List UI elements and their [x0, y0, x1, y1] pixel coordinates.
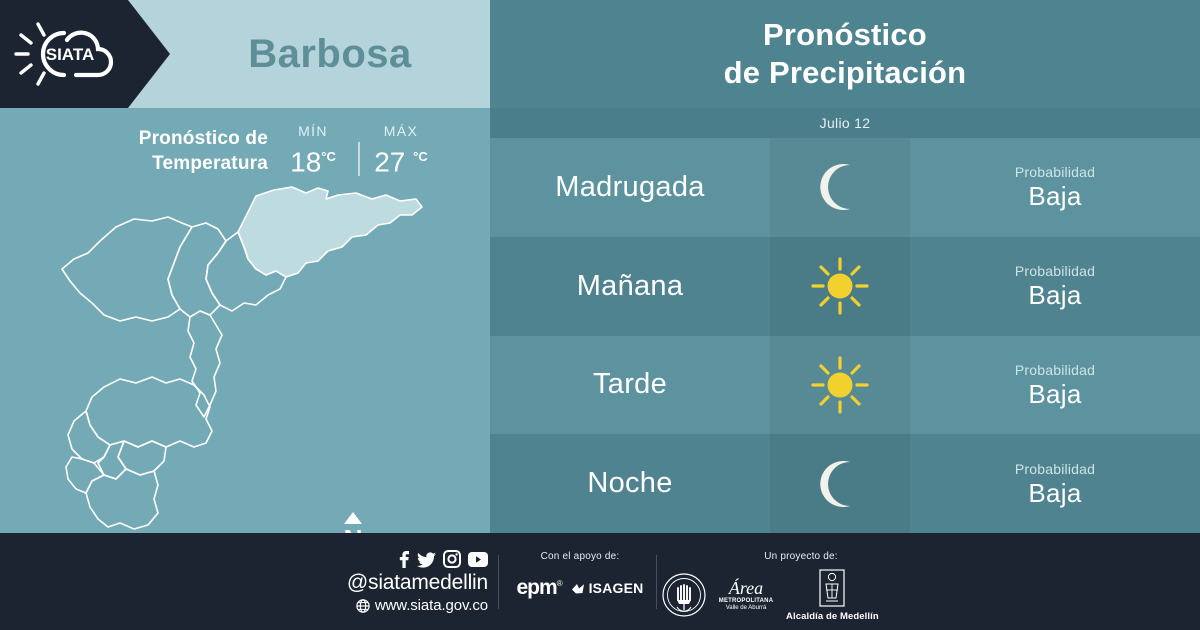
period-label: Mañana — [577, 270, 684, 303]
forecast-row: Madrugada Probabilidad Baja — [490, 138, 1200, 237]
period-cell: Tarde — [490, 336, 770, 435]
sun-cloud-icon: SIATA — [14, 18, 126, 90]
left-panel: SIATA Barbosa Pronóstico de Temperatura … — [0, 0, 490, 533]
forecast-rows: Madrugada Probabilidad Baja Mañana — [490, 138, 1200, 533]
sun-icon — [809, 255, 871, 317]
weather-icon-cell — [770, 336, 910, 435]
period-label: Madrugada — [555, 171, 704, 204]
map-region-corridor — [188, 311, 222, 417]
temperature-values: MÍN 18°C MÁX 27 °C — [278, 122, 438, 186]
temperature-block: Pronóstico de Temperatura MÍN 18°C MÁX 2… — [60, 122, 440, 186]
footer-divider — [656, 555, 657, 609]
probability-value: Baja — [1028, 478, 1081, 508]
forecast-title-line2: de Precipitación — [724, 55, 967, 90]
twitter-icon[interactable] — [417, 550, 436, 569]
left-header: SIATA Barbosa — [0, 0, 490, 108]
temperature-min-value-wrap: 18°C — [278, 141, 348, 178]
probability-cell: Probabilidad Baja — [910, 138, 1200, 237]
probability-caption: Probabilidad — [1015, 361, 1095, 379]
compass-arrow — [344, 512, 362, 524]
forecast-row: Noche Probabilidad Baja — [490, 434, 1200, 533]
temperature-min-value: 18 — [290, 146, 321, 177]
amva-name: Área — [718, 578, 774, 598]
youtube-icon[interactable] — [468, 552, 488, 567]
social-icons — [318, 549, 488, 569]
alcaldia-logo: Alcaldía de Medellín — [786, 568, 879, 622]
temperature-max-value-wrap: 27 °C — [366, 141, 436, 178]
alcaldia-name: Alcaldía de Medellín — [786, 611, 879, 622]
isagen-logo: ISAGEN — [571, 580, 644, 596]
website-url[interactable]: www.siata.gov.co — [375, 596, 488, 615]
facebook-icon[interactable] — [398, 550, 410, 569]
weather-icon-cell — [770, 434, 910, 533]
weather-icon-cell — [770, 138, 910, 237]
epm-logo: epm® — [517, 576, 562, 600]
infographic-root: SIATA Barbosa Pronóstico de Temperatura … — [0, 0, 1200, 630]
temperature-min: MÍN 18°C — [278, 122, 348, 178]
aburra-valley-map: N — [60, 185, 460, 533]
map-region-medellin — [86, 377, 212, 447]
forecast-header: Pronóstico de Precipitación — [490, 0, 1200, 108]
epm-logo-text: epm — [517, 576, 557, 599]
globe-icon — [356, 599, 370, 613]
temperature-max: MÁX 27 °C — [366, 122, 436, 178]
page-title: Barbosa — [170, 0, 490, 108]
forecast-title: Pronóstico de Precipitación — [724, 16, 967, 92]
temperature-max-label: MÁX — [366, 122, 436, 141]
period-label: Tarde — [593, 368, 667, 401]
project-logos: Área METROPOLITANA Valle de Aburrá Alcal… — [662, 568, 892, 622]
map-region-itagui — [68, 411, 110, 463]
temperature-min-label: MÍN — [278, 122, 348, 141]
isagen-logo-text: ISAGEN — [589, 580, 644, 596]
isagen-mark-icon — [571, 581, 586, 596]
forecast-date: Julio 12 — [820, 115, 871, 131]
social-handle[interactable]: @siatamedellin — [318, 570, 488, 595]
footer-divider — [498, 555, 499, 609]
support-caption: Con el apoyo de: — [505, 551, 655, 562]
siata-logo-text: SIATA — [46, 45, 94, 64]
probability-caption: Probabilidad — [1015, 460, 1095, 478]
support-block: Con el apoyo de: epm® ISAGEN — [505, 551, 655, 600]
probability-value: Baja — [1028, 181, 1081, 211]
temperature-min-unit: °C — [321, 149, 336, 164]
probability-cell: Probabilidad Baja — [910, 237, 1200, 336]
period-label: Noche — [587, 467, 672, 500]
map-svg — [60, 185, 460, 533]
forecast-panel: Pronóstico de Precipitación Julio 12 Mad… — [490, 0, 1200, 533]
social-block: @siatamedellin www.siata.gov.co — [318, 549, 488, 615]
support-logos: epm® ISAGEN — [505, 576, 655, 600]
alcaldia-crest-icon — [815, 568, 849, 608]
footer: @siatamedellin www.siata.gov.co Con el a… — [0, 533, 1200, 630]
instagram-icon[interactable] — [443, 550, 461, 568]
temperature-max-unit: °C — [413, 149, 428, 164]
amva-sub1: METROPOLITANA — [718, 598, 774, 605]
temperature-title-line1: Pronóstico de — [139, 128, 268, 149]
period-cell: Mañana — [490, 237, 770, 336]
probability-value: Baja — [1028, 379, 1081, 409]
forecast-date-band: Julio 12 — [490, 108, 1200, 138]
period-cell: Noche — [490, 434, 770, 533]
forecast-title-line1: Pronóstico — [763, 17, 927, 52]
probability-cell: Probabilidad Baja — [910, 336, 1200, 435]
forecast-row: Mañana — [490, 237, 1200, 336]
udea-seal-icon — [662, 573, 706, 617]
project-caption: Un proyecto de: — [710, 551, 892, 562]
probability-cell: Probabilidad Baja — [910, 434, 1200, 533]
weather-icon-cell — [770, 237, 910, 336]
temperature-title-line2: Temperatura — [152, 153, 268, 174]
siata-logo-banner: SIATA — [0, 0, 170, 108]
moon-icon — [809, 453, 871, 515]
temperature-title: Pronóstico de Temperatura — [60, 126, 268, 176]
period-cell: Madrugada — [490, 138, 770, 237]
moon-icon — [809, 156, 871, 218]
amva-sub2: Valle de Aburrá — [718, 605, 774, 612]
map-region-bello — [62, 217, 192, 321]
website-row[interactable]: www.siata.gov.co — [318, 596, 488, 615]
map-region-barbosa — [238, 187, 422, 277]
project-block: Un proyecto de: Área METROPOLITANA Valle… — [662, 551, 892, 622]
forecast-row: Tarde — [490, 336, 1200, 435]
temperature-divider — [358, 142, 360, 176]
probability-caption: Probabilidad — [1015, 163, 1095, 181]
probability-value: Baja — [1028, 280, 1081, 310]
amva-logo: Área METROPOLITANA Valle de Aburrá — [718, 578, 774, 612]
temperature-max-value: 27 — [374, 146, 405, 177]
sun-icon — [809, 354, 871, 416]
probability-caption: Probabilidad — [1015, 262, 1095, 280]
